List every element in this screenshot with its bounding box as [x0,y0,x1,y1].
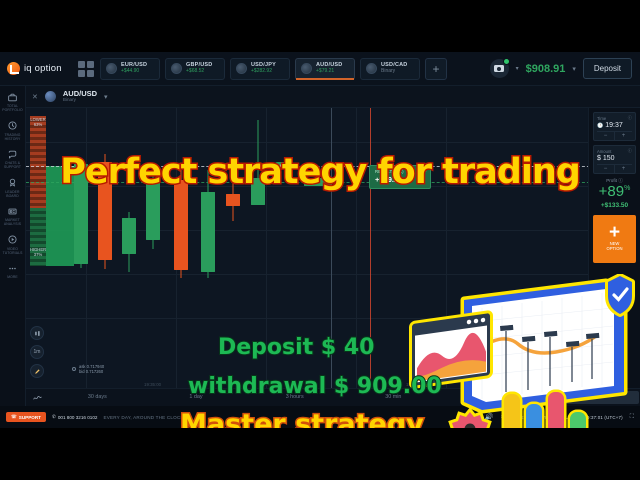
profit-percent: +89% [593,184,636,201]
info-icon[interactable]: ⓘ [628,115,632,121]
clock-icon [6,120,19,132]
balance-chevron-down-icon[interactable]: ▾ [572,65,576,73]
tab-change: +$44.90 [121,69,147,74]
tab-aud-usd[interactable]: AUD/USD +$79.21 [295,58,355,80]
brand-logo[interactable]: iq option [0,62,76,75]
chat-bubble-icon [6,148,19,160]
brand-name: iq option [24,63,62,74]
phone-icon: ✆ [52,414,56,420]
plus-icon: + [609,226,620,240]
newspaper-icon [6,205,19,217]
overlay-master-strategy: Master strategy [180,409,424,428]
amount-label: Amount [597,149,611,154]
play-circle-icon [6,234,19,246]
trophy-icon [6,177,19,189]
time-axis-label: 19:35:00 [144,382,161,387]
amount-increase-button[interactable]: + [615,165,632,173]
eur-usd-flag-icon [106,63,117,74]
sidebar-item-leader-board[interactable]: LEADERBOARD [0,177,26,199]
new-option-label: NEWOPTION [606,241,622,251]
amount-decrease-button[interactable]: − [597,165,615,173]
availability-text: EVERY DAY, AROUND THE CLOCK [103,415,183,420]
add-instrument-button[interactable]: + [425,58,447,80]
app-header: iq option EUR/USD +$44.90 GBP/USD [0,52,640,86]
tab-change: +$68.52 [186,69,212,74]
sidebar-label: MARKETANALYSIS [4,218,21,227]
overlay-deposit-line: Deposit $ 40 [218,335,374,360]
briefcase-icon [6,91,19,103]
grid-apps-icon[interactable] [78,61,94,77]
lower-zone-label: LOWER63% [26,117,51,127]
tab-eur-usd[interactable]: EUR/USD +$44.90 [100,58,160,80]
deposit-button[interactable]: Deposit [583,58,632,79]
tab-gbp-usd[interactable]: GBP/USD +$68.52 [165,58,225,80]
time-label: Time [597,116,606,121]
lower-probability-zone [30,116,46,208]
account-balance[interactable]: $908.91 [526,63,566,75]
aud-usd-flag-icon [45,91,56,102]
clock-icon: 🕐 [597,123,603,129]
timeframe-30-days[interactable]: 30 days [49,391,146,404]
sidebar-item-chats-support[interactable]: CHATS &SUPPORT [0,148,26,170]
usd-jpy-flag-icon [236,63,247,74]
tooltip-dot-icon [72,367,76,371]
chevron-down-icon[interactable]: ▾ [516,65,519,72]
chart-tools: 1m [30,326,44,378]
tab-change: Binary [381,69,407,74]
tab-usd-jpy[interactable]: USD/JPY +$282.92 [230,58,290,80]
sidebar-item-trading-history[interactable]: TRADINGHISTORY [0,120,26,142]
tab-change: +$79.21 [316,69,342,74]
sidebar-item-video-tutorials[interactable]: VIDEOTUTORIALS [0,234,26,256]
screenshot-camera-icon[interactable] [490,59,509,78]
promo-illustration [408,274,640,428]
overlay-withdrawal-line: withdrawal $ 909.00 [188,374,442,399]
indicators-icon[interactable] [30,326,44,340]
iq-option-trading-app: iq option EUR/USD +$44.90 GBP/USD [0,52,640,428]
sidebar-label: MORE [7,275,18,279]
sidebar-label: TRADINGHISTORY [5,133,21,142]
left-sidebar: TOTALPORTFOLIO TRADINGHISTORY CHATS &SUP… [0,86,26,406]
tab-usd-cad[interactable]: USD/CAD Binary [360,58,420,80]
sidebar-label: CHATS &SUPPORT [4,161,21,170]
sidebar-item-market-analysis[interactable]: MARKETANALYSIS [0,205,26,227]
time-decrease-button[interactable]: − [597,132,615,140]
instrument-bar: ✕ AUD/USD Binary ▾ [26,86,640,108]
support-phone[interactable]: ✆ 001 800 3216 0102 [52,414,97,420]
overlay-title: Perfect strategy for trading [60,152,580,192]
sidebar-label: TOTALPORTFOLIO [2,104,22,113]
new-option-button[interactable]: + NEWOPTION [593,215,636,263]
gbp-usd-flag-icon [171,63,182,74]
amount-value: $ 150 [597,155,615,162]
time-increase-button[interactable]: + [615,132,632,140]
draw-pencil-icon[interactable] [30,364,44,378]
ellipsis-icon [6,262,19,274]
expiration-time-field[interactable]: Time ⓘ 🕐 19:37 − + [593,112,636,141]
candle-up [122,212,136,272]
header-right-cluster: ▾ $908.91 ▾ Deposit [490,58,640,79]
video-letterbox-frame: iq option EUR/USD +$44.90 GBP/USD [0,0,640,480]
info-icon[interactable]: ⓘ [628,148,632,154]
tab-change: +$282.92 [251,69,276,74]
profit-amount: +$133.50 [593,202,636,209]
ask-bid-tooltip: ask 0.717940 bid 0.717260 [72,364,104,375]
timeframe-button[interactable]: 1m [30,345,44,359]
sidebar-item-total-portfolio[interactable]: TOTALPORTFOLIO [0,91,26,113]
higher-probability-zone [30,208,46,266]
sidebar-label: VIDEOTUTORIALS [3,247,23,256]
instrument-type: Binary [63,98,97,103]
support-button[interactable]: ☏ SUPPORT [6,412,46,422]
line-chart-icon[interactable] [26,393,48,402]
sidebar-item-more[interactable]: MORE [0,262,26,279]
sidebar-label: LEADERBOARD [5,190,19,199]
instrument-chevron-down-icon[interactable]: ▾ [104,93,108,101]
phone-number: 001 800 3216 0102 [58,415,98,420]
close-instrument-icon[interactable]: ✕ [32,93,38,101]
usd-cad-flag-icon [366,63,377,74]
headset-icon: ☏ [11,414,17,420]
time-value: 19:37 [605,122,623,129]
bid-price: bid 0.717260 [79,369,104,374]
support-label: SUPPORT [19,415,41,420]
iq-option-logo-icon [7,62,20,75]
instrument-tabs: EUR/USD +$44.90 GBP/USD +$68.52 USD/JPY [100,52,490,85]
amount-field[interactable]: Amount ⓘ $ 150 − + [593,145,636,174]
aud-usd-flag-icon [301,63,312,74]
